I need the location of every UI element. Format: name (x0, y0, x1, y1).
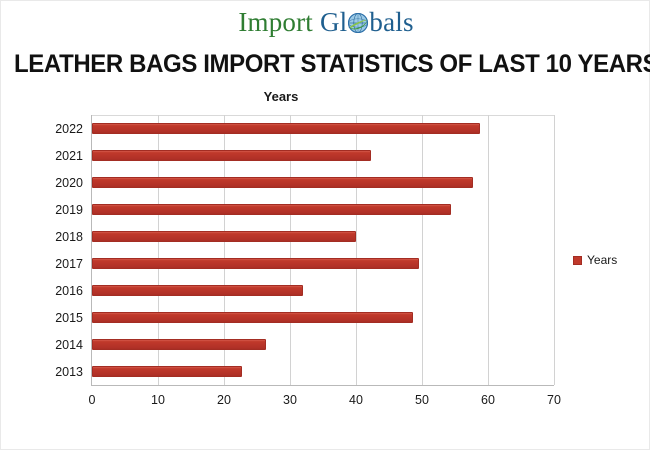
bar-row: 2015 (92, 304, 554, 331)
bar[interactable] (92, 123, 480, 134)
y-tick-label: 2021 (55, 149, 83, 162)
bar-row: 2018 (92, 223, 554, 250)
bar-row: 2016 (92, 277, 554, 304)
bar-row: 2017 (92, 250, 554, 277)
chart-page: Import Gl bals LEATHER BAGS IMPORT STATI… (0, 0, 650, 450)
plot-area: 2022202120202019201820172016201520142013… (91, 115, 554, 386)
bar-rows: 2022202120202019201820172016201520142013 (92, 115, 554, 385)
bar-chart: Years 2022202120202019201820172016201520… (1, 85, 650, 425)
bar[interactable] (92, 204, 451, 215)
brand-word-globals-prefix: Gl (320, 7, 347, 37)
bar[interactable] (92, 258, 419, 269)
bar-row: 2021 (92, 142, 554, 169)
y-tick-label: 2020 (55, 176, 83, 189)
y-tick-label: 2018 (55, 230, 83, 243)
brand-logo: Import Gl bals (1, 9, 650, 36)
bar-row: 2013 (92, 358, 554, 385)
y-tick-label: 2014 (55, 338, 83, 351)
x-tick-label: 30 (283, 393, 297, 407)
bar[interactable] (92, 150, 371, 161)
bar[interactable] (92, 312, 413, 323)
bar[interactable] (92, 339, 266, 350)
y-tick-label: 2019 (55, 203, 83, 216)
bar[interactable] (92, 231, 356, 242)
y-tick-label: 2016 (55, 284, 83, 297)
x-tick-label: 70 (547, 393, 561, 407)
gridline (554, 115, 555, 385)
x-tick-label: 60 (481, 393, 495, 407)
x-tick-label: 10 (151, 393, 165, 407)
chart-title: Years (1, 89, 561, 104)
bar-row: 2019 (92, 196, 554, 223)
legend-swatch-icon (573, 256, 582, 265)
bar[interactable] (92, 366, 242, 377)
y-tick-label: 2015 (55, 311, 83, 324)
x-tick-label: 0 (89, 393, 96, 407)
bar-row: 2022 (92, 115, 554, 142)
brand-word-globals-suffix: bals (369, 7, 413, 37)
y-tick-label: 2022 (55, 122, 83, 135)
bar[interactable] (92, 177, 473, 188)
x-tick-label: 20 (217, 393, 231, 407)
y-tick-label: 2017 (55, 257, 83, 270)
legend-label: Years (587, 253, 617, 267)
brand-word-import: Import (238, 7, 313, 37)
chart-legend: Years (573, 253, 617, 267)
page-title: LEATHER BAGS IMPORT STATISTICS OF LAST 1… (14, 50, 638, 79)
bar-row: 2020 (92, 169, 554, 196)
y-tick-label: 2013 (55, 365, 83, 378)
globe-icon (347, 12, 369, 34)
bar-row: 2014 (92, 331, 554, 358)
x-tick-label: 50 (415, 393, 429, 407)
bar[interactable] (92, 285, 303, 296)
x-tick-label: 40 (349, 393, 363, 407)
